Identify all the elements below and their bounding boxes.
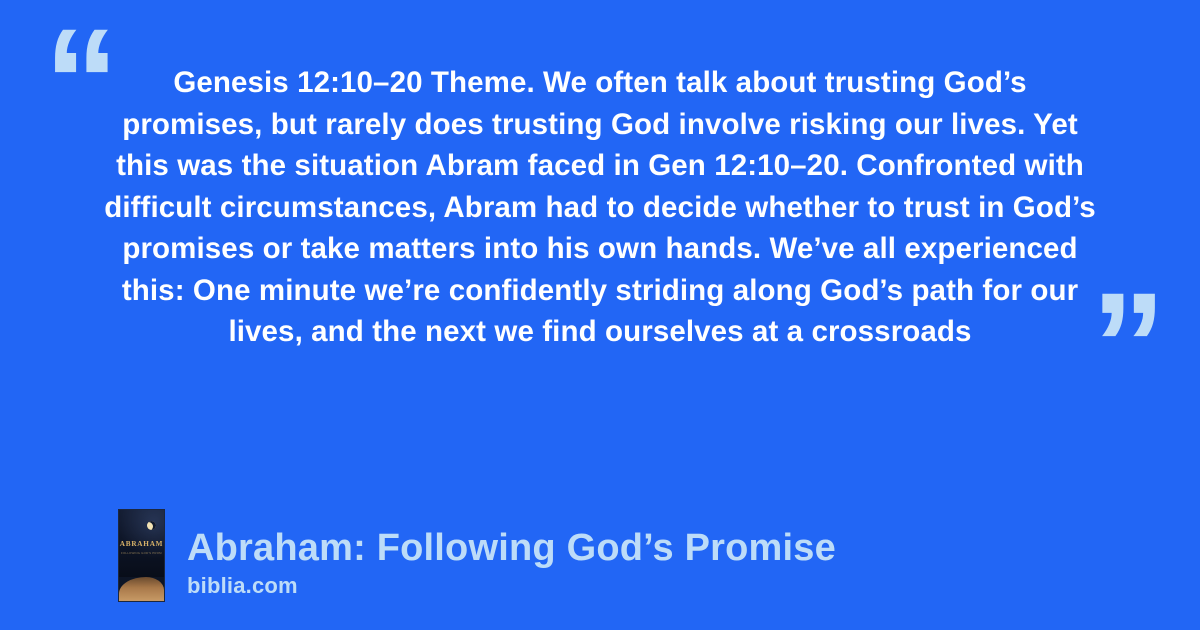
footer-text-block: Abraham: Following God’s Promise biblia.… xyxy=(187,526,836,602)
cover-subtitle-text: FOLLOWING GOD’S PROMISE xyxy=(121,551,162,555)
cover-sand-dune xyxy=(119,577,164,601)
footer: ABRAHAM FOLLOWING GOD’S PROMISE Abraham:… xyxy=(118,509,836,602)
crescent-moon-icon xyxy=(147,521,156,530)
book-cover-thumbnail: ABRAHAM FOLLOWING GOD’S PROMISE xyxy=(118,509,165,602)
cover-title-text: ABRAHAM xyxy=(119,540,164,548)
quote-block: Genesis 12:10–20 Theme. We often talk ab… xyxy=(100,62,1100,353)
site-name: biblia.com xyxy=(187,572,836,600)
quote-text: Genesis 12:10–20 Theme. We often talk ab… xyxy=(100,62,1100,353)
quote-card: “ ” Genesis 12:10–20 Theme. We often tal… xyxy=(0,0,1200,630)
book-title: Abraham: Following God’s Promise xyxy=(187,526,836,570)
close-quote-icon: ” xyxy=(1091,270,1162,420)
